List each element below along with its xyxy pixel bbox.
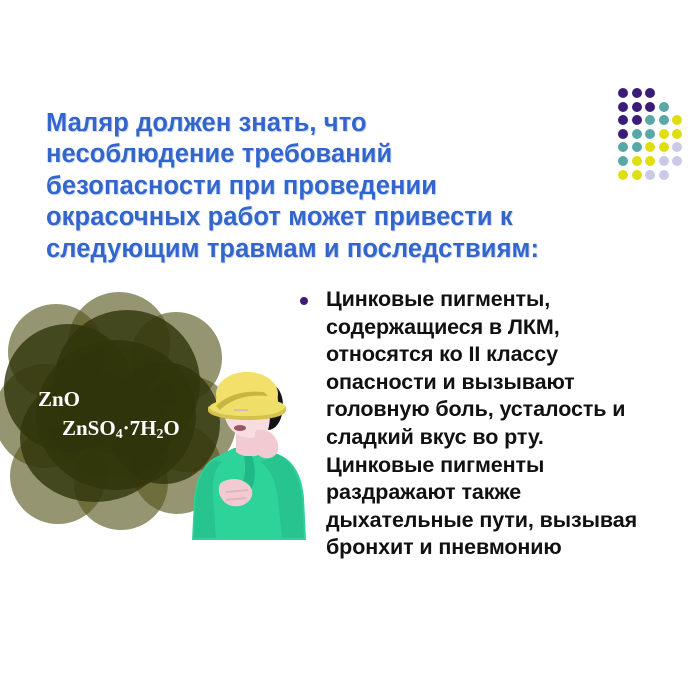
body-line-7: Цинковые пигменты (326, 452, 626, 480)
body-line-8: раздражают также (326, 479, 626, 507)
grid-dot (618, 129, 628, 139)
grid-dot (618, 88, 628, 98)
grid-dot (659, 142, 669, 152)
grid-dot (632, 129, 642, 139)
decorative-dot-grid (618, 88, 696, 186)
body-line-10: бронхит и пневмонию (326, 534, 626, 562)
grid-dot (618, 142, 628, 152)
grid-dot (645, 156, 655, 166)
body-line-4: опасности и вызывают (326, 369, 626, 397)
grid-dot (632, 142, 642, 152)
body-line-5: головную боль, усталость и (326, 396, 626, 424)
grid-dot (659, 129, 669, 139)
grid-dot (618, 102, 628, 112)
grid-dot (618, 156, 628, 166)
grid-dot (645, 129, 655, 139)
body-line-6: сладкий вкус во рту. (326, 424, 626, 452)
grid-dot (659, 170, 669, 180)
grid-dot (618, 170, 628, 180)
worker-mouth (234, 425, 246, 431)
grid-dot (618, 115, 628, 125)
grid-dot (645, 88, 655, 98)
grid-dot (632, 115, 642, 125)
formula-mid: ·7H (123, 416, 157, 440)
formula-zinc-oxide: ZnO (38, 387, 80, 412)
body-line-9: дыхательные пути, вызывая (326, 507, 626, 535)
body-line-3: относятся ко II классу (326, 341, 626, 369)
title-line-2: несоблюдение требований (46, 139, 606, 170)
title-line-4: окрасочных работ может привести к (46, 202, 606, 233)
title-line-5: следующим травмам и последствиям: (46, 234, 606, 265)
slide-title: Маляр должен знать, что несоблюдение тре… (46, 108, 606, 265)
worker-svg (186, 372, 318, 544)
grid-dot (645, 170, 655, 180)
grid-dot (645, 142, 655, 152)
formula-suffix: O (163, 416, 179, 440)
title-line-3: безопасности при проведении (46, 171, 606, 202)
grid-dot (672, 142, 682, 152)
grid-dot (632, 170, 642, 180)
grid-dot (672, 115, 682, 125)
grid-dot (632, 156, 642, 166)
grid-dot (672, 156, 682, 166)
grid-dot (659, 102, 669, 112)
grid-dot (645, 115, 655, 125)
body-line-2: содержащиеся в ЛКМ, (326, 314, 626, 342)
body-text: Цинковые пигменты, содержащиеся в ЛКМ, о… (326, 286, 626, 562)
grid-dot (632, 88, 642, 98)
formula-prefix: ZnSO (62, 416, 116, 440)
formula-zinc-sulfate-heptahydrate: ZnSO4·7H2O (62, 416, 180, 442)
worker-illustration (186, 372, 318, 544)
formula-sub-4: 4 (116, 426, 123, 441)
grid-dot (659, 156, 669, 166)
grid-dot (672, 129, 682, 139)
title-line-1: Маляр должен знать, что (46, 108, 606, 139)
grid-dot (645, 102, 655, 112)
body-line-1: Цинковые пигменты, (326, 286, 626, 314)
grid-dot (632, 102, 642, 112)
presentation-slide: Маляр должен знать, что несоблюдение тре… (0, 0, 700, 700)
bullet-point-icon (300, 297, 308, 305)
grid-dot (659, 115, 669, 125)
